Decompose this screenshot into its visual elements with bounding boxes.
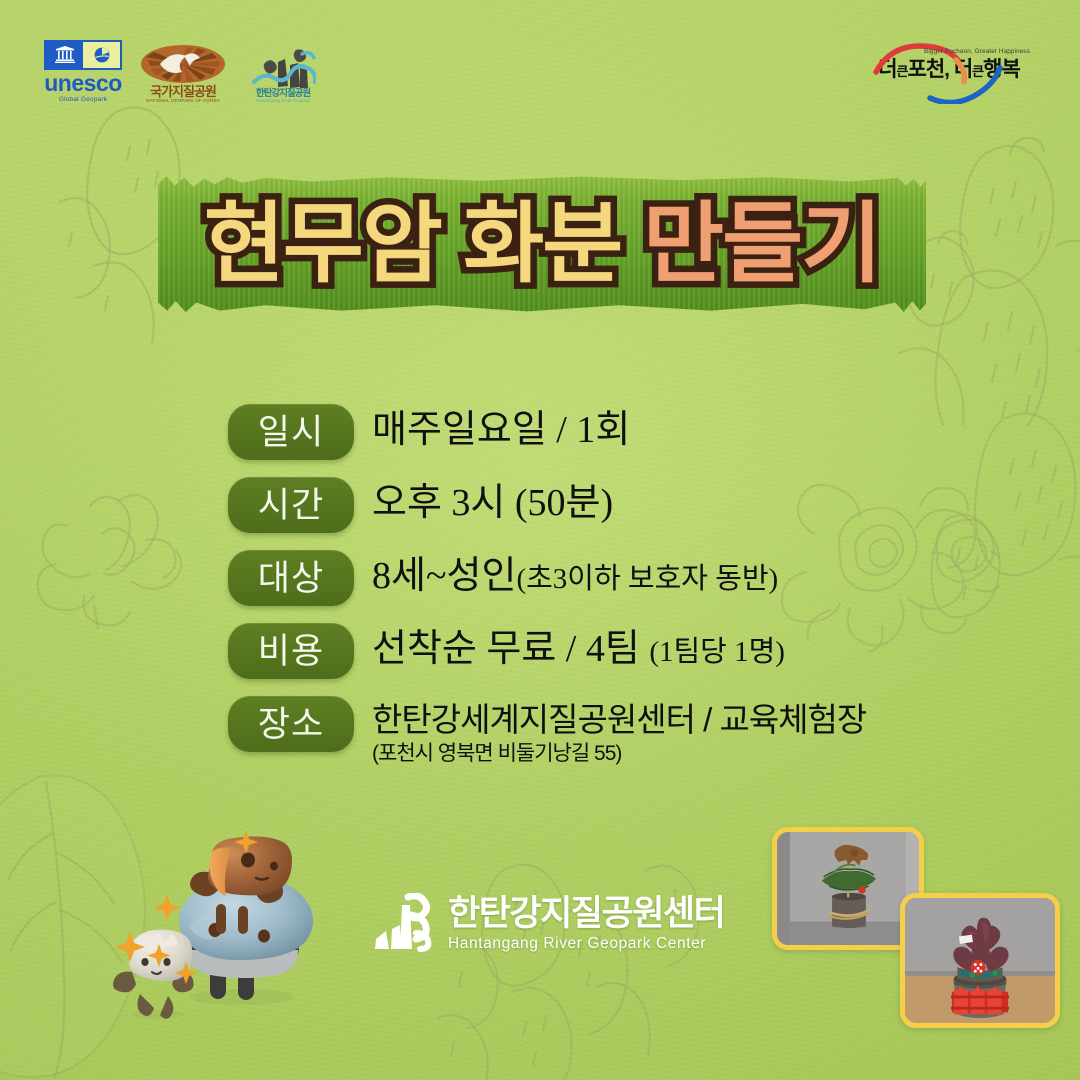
info-value-wrap-audience: 8세~성인(초3이하 보호자 동반)	[372, 550, 778, 601]
info-value-audience-main: 8세~성인	[372, 555, 516, 597]
info-value-wrap-time: 오후 3시 (50분)	[372, 477, 613, 528]
info-label-date: 일시	[258, 415, 324, 450]
info-row-date: 일시 매주일요일 / 1회	[228, 404, 1008, 460]
info-value-wrap-place: 한탄강세계지질공원센터 / 교육체험장 (포천시 영북면 비둘기낭길 55)	[372, 696, 866, 768]
info-value-audience-note: (초3이하 보호자 동반)	[516, 563, 778, 595]
pocheon-slogan-en: Bigger Pocheon, Greater Happiness	[924, 48, 1030, 55]
title-spacer	[621, 200, 643, 288]
magnolia-decoration-left	[28, 478, 208, 638]
info-value-date: 매주일요일 / 1회	[372, 407, 630, 455]
info-row-time: 시간 오후 3시 (50분)	[228, 477, 1008, 533]
info-row-fee: 비용 선착순 무료 / 4팀 (1팀당 1명)	[228, 623, 1008, 679]
geopark-center-name-ko: 한탄강지질공원센터	[448, 896, 724, 933]
info-value-place-address: (포천시 영북면 비둘기낭길 55)	[372, 741, 866, 767]
title-part-1: 현무암 화분	[204, 200, 621, 288]
pocheon-city-slogan-logo: Bigger Pocheon, Greater Happiness 더큰포천, …	[864, 44, 1034, 80]
national-geopark-emblem-icon	[140, 44, 226, 84]
info-label-time: 시간	[258, 488, 324, 523]
title-part-2: 만들기	[643, 200, 880, 288]
info-list: 일시 매주일요일 / 1회 시간 오후 3시 (50분) 대상 8세~성인(초3…	[228, 404, 1008, 785]
info-value-fee-note: (1팀당 1명)	[649, 636, 785, 668]
info-label-pill-place: 장소	[228, 696, 354, 752]
poster-canvas: unesco Global Geopark 국가지질공원	[0, 0, 1080, 1080]
header-logo-row: unesco Global Geopark 국가지질공원	[44, 40, 322, 104]
national-geopark-logo: 국가지질공원 NATIONAL GEOPARK OF KOREA	[140, 44, 226, 104]
unesco-subtitle: Global Geopark	[59, 97, 107, 104]
geopark-center-emblem-icon	[372, 893, 438, 955]
info-label-pill-audience: 대상	[228, 550, 354, 606]
national-geopark-name-ko: 국가지질공원	[150, 85, 216, 98]
geopark-center-logo: 한탄강지질공원센터 Hantangang River Geopark Cente…	[372, 893, 724, 955]
info-row-place: 장소 한탄강세계지질공원센터 / 교육체험장 (포천시 영북면 비둘기낭길 55…	[228, 696, 1008, 768]
info-value-fee-main: 선착순 무료 / 4팀	[372, 628, 640, 670]
info-label-pill-fee: 비용	[228, 623, 354, 679]
national-geopark-name-en: NATIONAL GEOPARK OF KOREA	[146, 99, 220, 103]
hantangang-geopark-name-ko: 한탄강지질공원	[256, 89, 310, 99]
rock-mascot-group	[112, 822, 362, 1032]
info-label-fee: 비용	[258, 634, 324, 669]
hantangang-geopark-name-en: Hantangang River Geopark	[256, 99, 309, 103]
unesco-logo: unesco Global Geopark	[44, 40, 122, 104]
hantangang-geopark-logo: 한탄강지질공원 Hantangang River Geopark	[244, 48, 322, 104]
unesco-emblem-icon	[44, 40, 122, 70]
basalt-pot-with-succulent-photo	[900, 893, 1060, 1028]
info-value-wrap-fee: 선착순 무료 / 4팀 (1팀당 1명)	[372, 623, 785, 674]
info-label-pill-date: 일시	[228, 404, 354, 460]
info-value-audience: 8세~성인(초3이하 보호자 동반)	[372, 553, 778, 601]
info-label-audience: 대상	[258, 561, 324, 596]
cactus-decoration-bottom-center	[400, 846, 720, 1080]
geopark-center-name-en: Hantangang River Geopark Center	[448, 935, 724, 952]
info-row-audience: 대상 8세~성인(초3이하 보호자 동반)	[228, 550, 1008, 606]
poster-title: 현무암 화분 만들기	[158, 176, 926, 312]
info-value-wrap-date: 매주일요일 / 1회	[372, 404, 630, 455]
info-value-fee: 선착순 무료 / 4팀 (1팀당 1명)	[372, 626, 785, 674]
info-label-pill-time: 시간	[228, 477, 354, 533]
info-value-time: 오후 3시 (50분)	[372, 480, 613, 528]
hantangang-geopark-emblem-icon	[250, 48, 316, 88]
info-label-place: 장소	[258, 707, 324, 742]
title-banner: 현무암 화분 만들기	[158, 176, 926, 312]
unesco-wordmark: unesco	[44, 72, 122, 95]
info-value-place: 한탄강세계지질공원센터 / 교육체험장	[372, 699, 866, 740]
